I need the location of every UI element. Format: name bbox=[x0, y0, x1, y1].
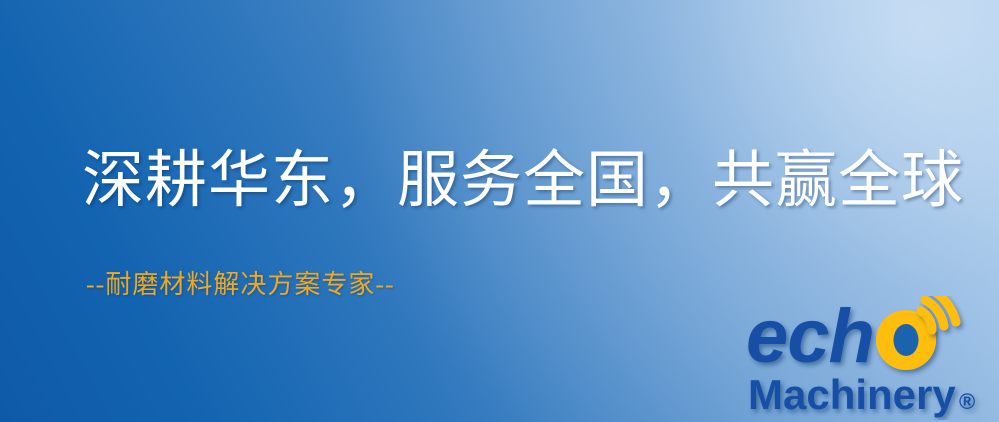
logo-ech-glyphs: ech bbox=[746, 296, 874, 379]
logo-machinery-glyphs: Machinery bbox=[748, 371, 956, 418]
echo-machinery-logo: ech Machinery ® bbox=[744, 296, 996, 420]
logo-registered-mark: ® bbox=[959, 389, 975, 414]
tagline: --耐磨材料解决方案专家-- bbox=[86, 264, 395, 301]
logo-text-machinery: Machinery ® bbox=[748, 371, 975, 418]
promo-banner: 深耕华东，服务全国，共赢全球 --耐磨材料解决方案专家-- ech bbox=[0, 0, 999, 422]
page-title: 深耕华东，服务全国，共赢全球 bbox=[82, 148, 964, 215]
logo-text-ech: ech bbox=[746, 296, 874, 379]
